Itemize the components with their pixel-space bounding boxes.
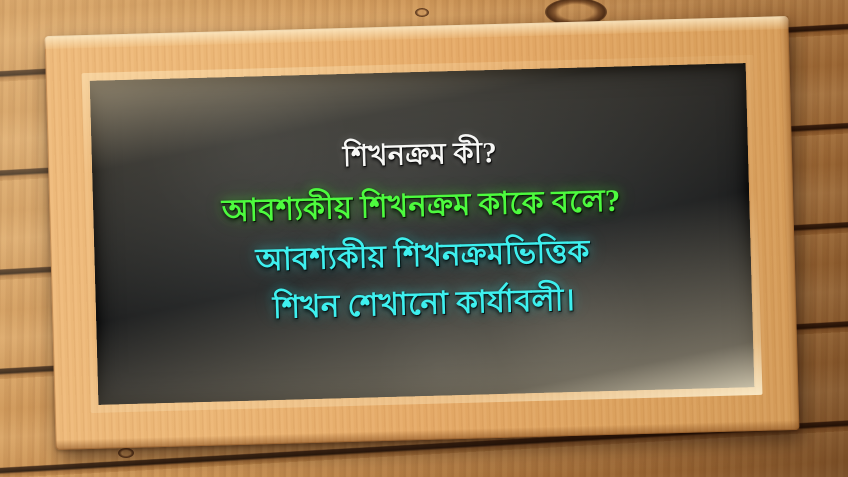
board-line-answer-part-2: শিখন শেখানো কার্যাবলী। <box>106 276 743 333</box>
slide-scene: শিখনক্রম কী? আবশ্যকীয় শিখনক্রম কাকে বলে… <box>0 0 848 477</box>
wooden-picture-frame: শিখনক্রম কী? আবশ্যকীয় শিখনক্রম কাকে বলে… <box>45 16 800 450</box>
framed-chalkboard: শিখনক্রম কী? আবশ্যকীয় শিখনক্রম কাকে বলে… <box>45 16 800 450</box>
board-line-answer-part-1: আবশ্যকীয় শিখনক্রমভিত্তিক <box>104 228 741 285</box>
chalkboard-surface: শিখনক্রম কী? আবশ্যকীয় শিখনক্রম কাকে বলে… <box>90 63 755 405</box>
board-line-question-secondary: আবশ্যকীয় শিখনক্রম কাকে বলে? <box>103 177 740 234</box>
chalkboard-text-block: শিখনক্রম কী? আবশ্যকীয় শিখনক্রম কাকে বলে… <box>92 128 753 339</box>
board-line-question-title: শিখনক্রম কী? <box>102 129 739 184</box>
